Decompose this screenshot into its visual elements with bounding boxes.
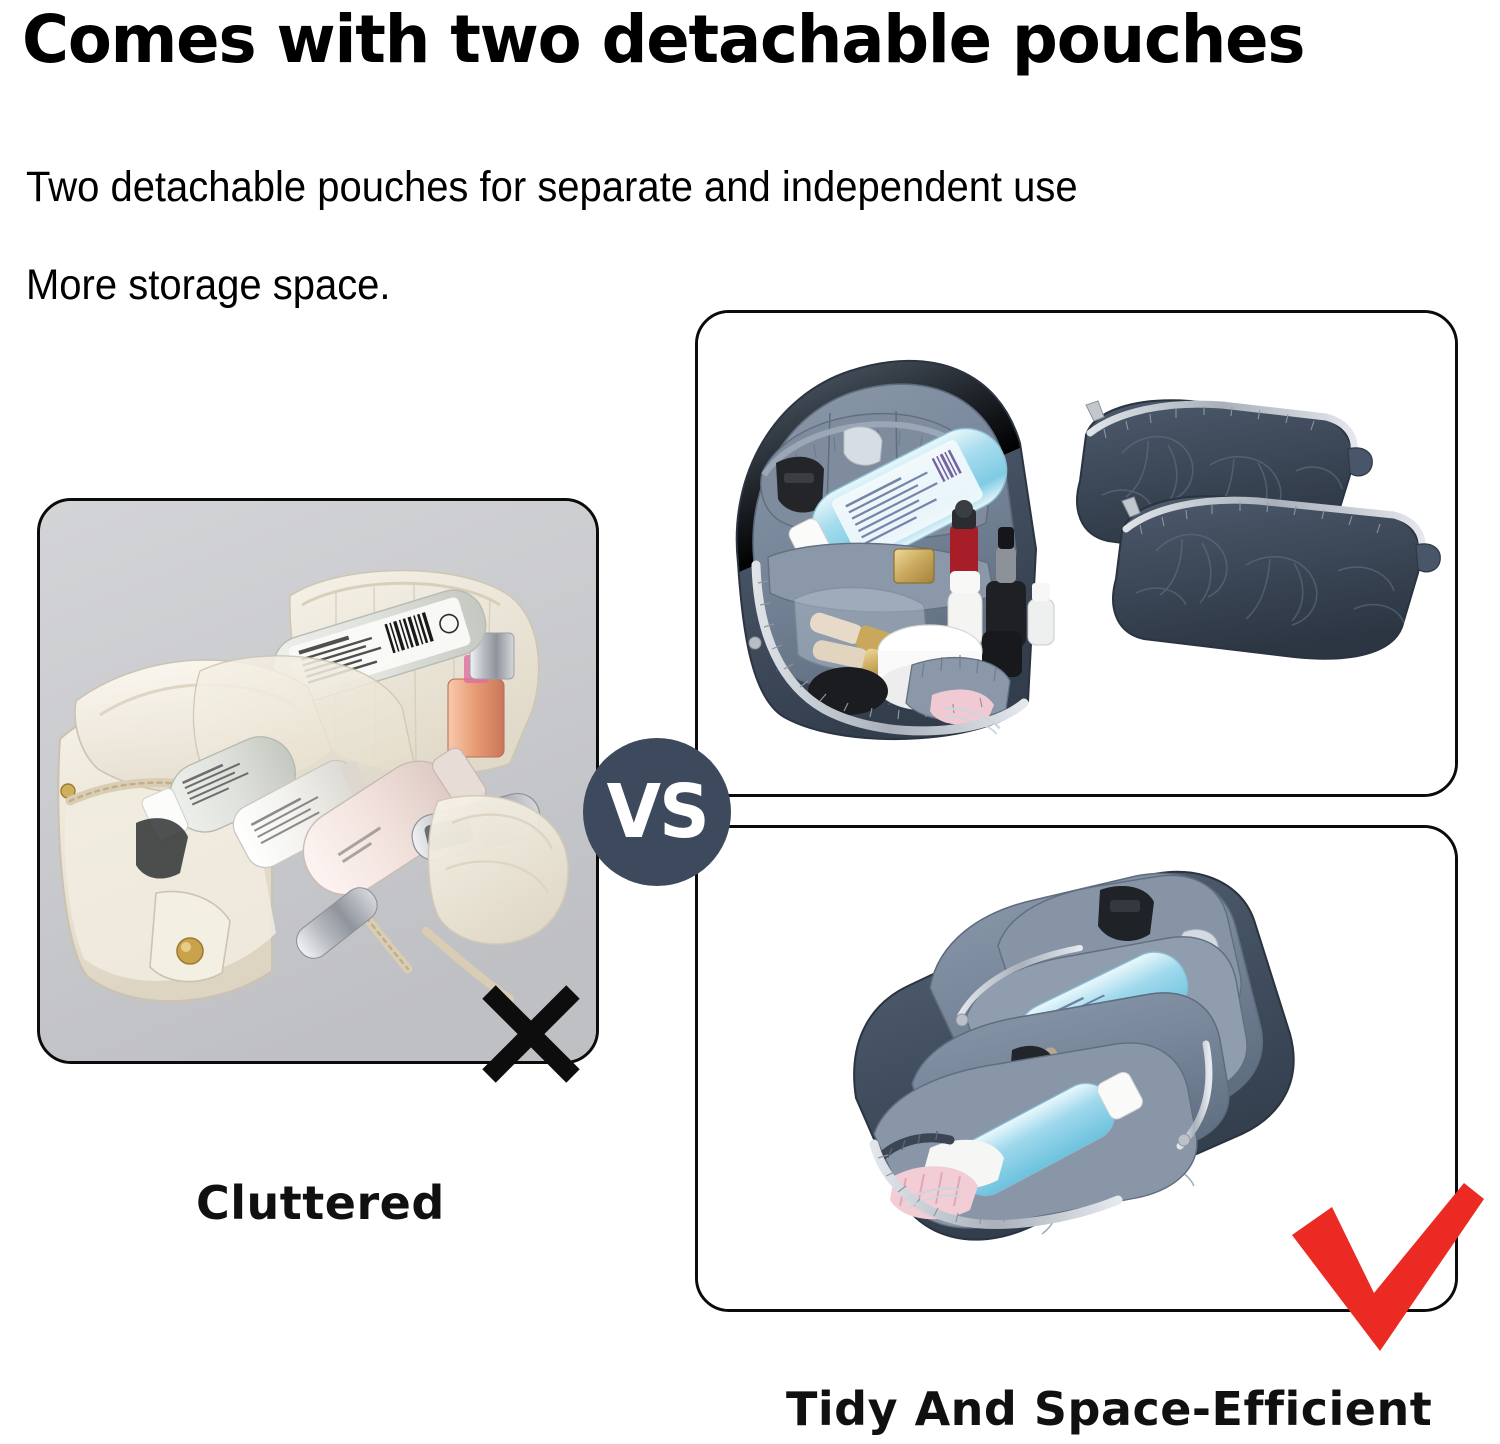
organized-bag-with-pouches-photo	[698, 313, 1455, 794]
cross-mark-icon	[477, 982, 585, 1086]
check-mark-icon	[1288, 1183, 1488, 1355]
page-title: Comes with two detachable pouches	[22, 2, 1438, 78]
caption-cluttered: Cluttered	[196, 1176, 445, 1230]
subtitle-line-1: Two detachable pouches for separate and …	[26, 163, 1078, 211]
vs-badge: VS	[583, 738, 731, 886]
vs-label: VS	[606, 775, 707, 849]
comparison-panel-cluttered	[37, 498, 599, 1064]
caption-tidy: Tidy And Space-Efficient	[786, 1382, 1432, 1436]
comparison-panel-detachable-pouches	[695, 310, 1458, 797]
cluttered-bag-photo	[40, 501, 596, 1061]
subtitle-line-2: More storage space.	[26, 261, 391, 309]
